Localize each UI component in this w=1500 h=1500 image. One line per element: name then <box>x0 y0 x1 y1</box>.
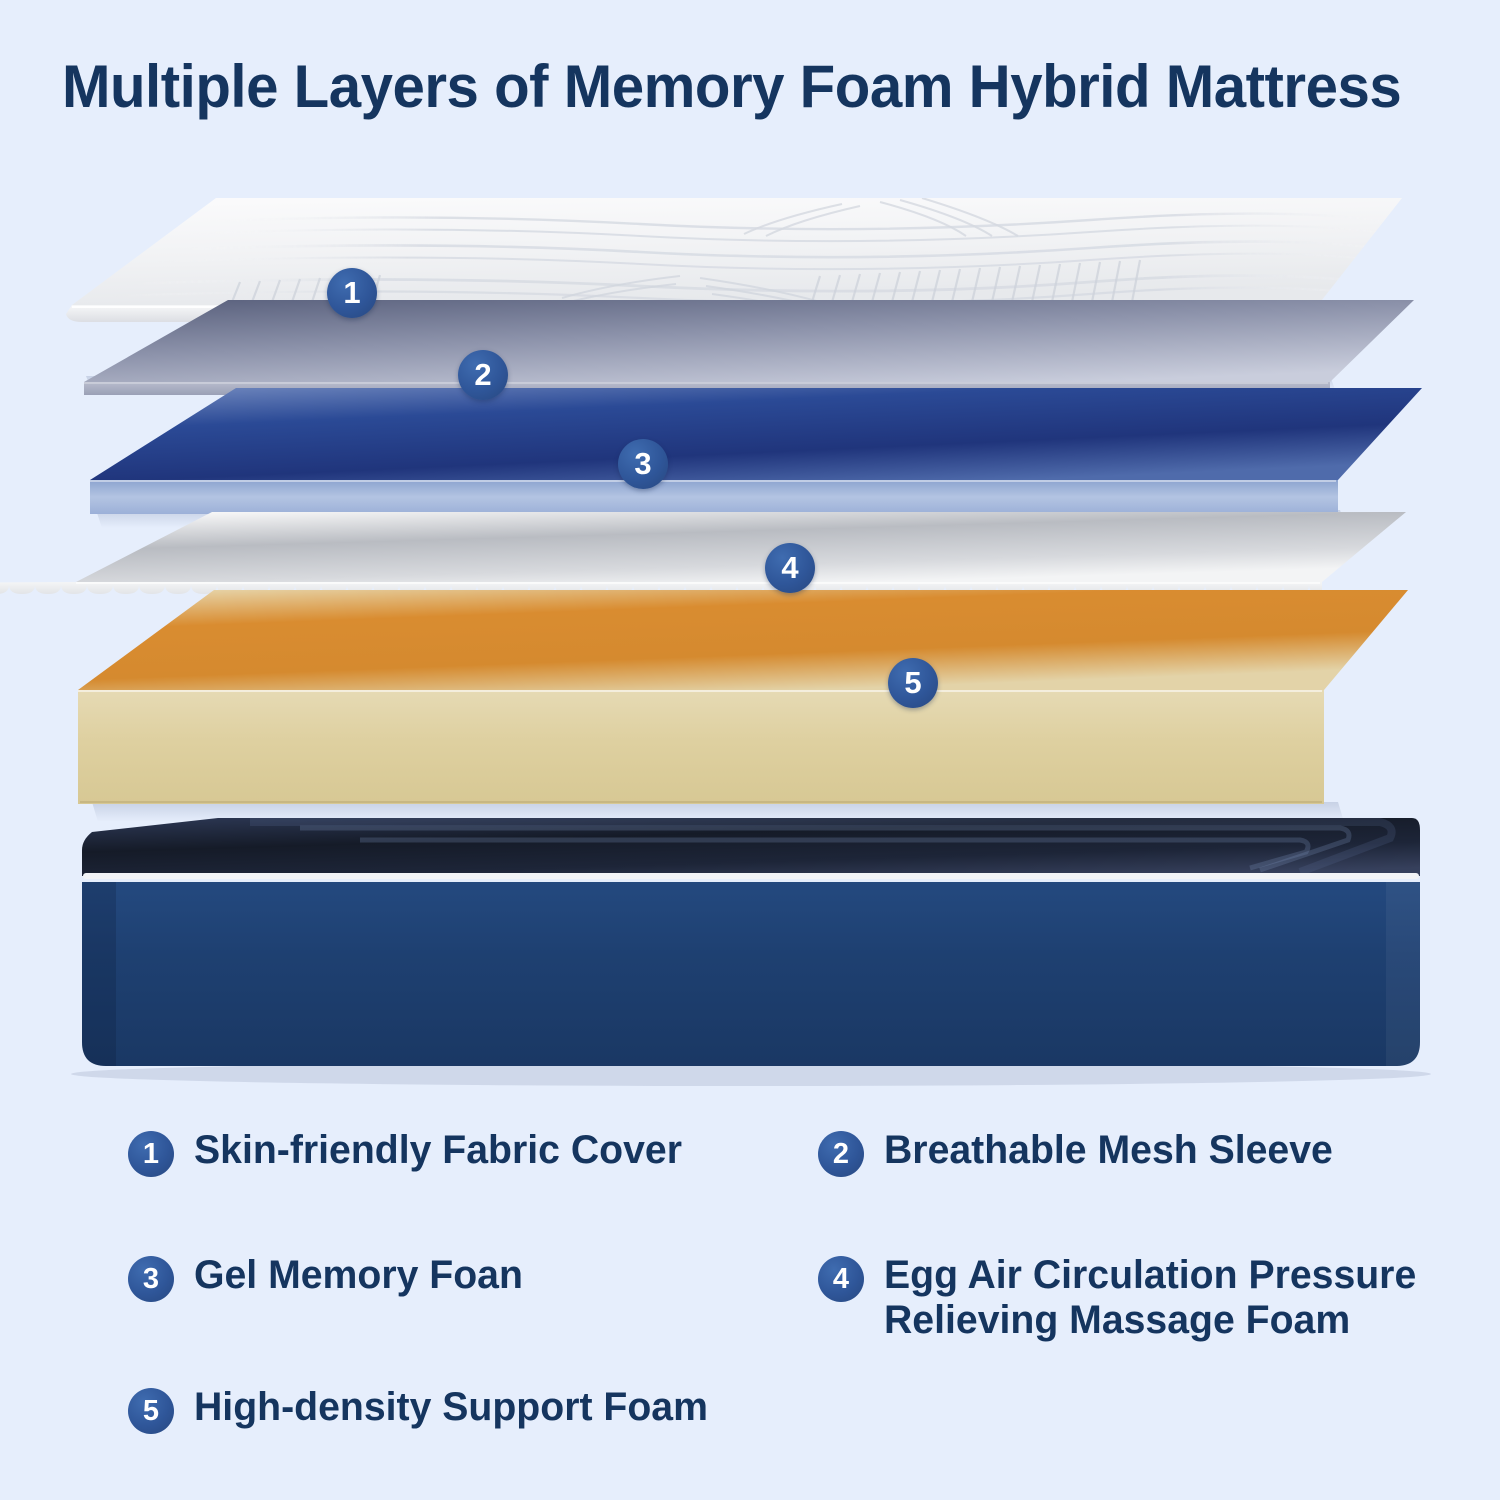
page-title: Multiple Layers of Memory Foam Hybrid Ma… <box>62 52 1420 121</box>
legend-item-2[interactable]: 2 Breathable Mesh Sleeve <box>818 1128 1342 1177</box>
figure-badge-3[interactable]: 3 <box>618 439 668 489</box>
legend-badge-4: 4 <box>818 1256 864 1302</box>
exploded-layers-svg <box>0 150 1500 1100</box>
mattress-layers-illustration: 1 2 3 4 5 <box>0 150 1500 1100</box>
legend-label-5: High-density Support Foam <box>194 1385 708 1430</box>
figure-badge-4[interactable]: 4 <box>765 543 815 593</box>
layer-2-mesh-sleeve <box>84 300 1414 395</box>
figure-badge-1[interactable]: 1 <box>327 268 377 318</box>
legend-label-2: Breathable Mesh Sleeve <box>884 1128 1333 1173</box>
layer-4-egg-air-foam <box>0 512 1406 594</box>
legend-item-1[interactable]: 1 Skin-friendly Fabric Cover <box>128 1128 692 1177</box>
mattress-base-box <box>71 818 1431 1086</box>
legend-item-3[interactable]: 3 Gel Memory Foan <box>128 1253 530 1302</box>
figure-badge-5[interactable]: 5 <box>888 658 938 708</box>
legend-badge-2: 2 <box>818 1131 864 1177</box>
legend-label-4: Egg Air Circulation Pressure Relieving M… <box>884 1253 1416 1343</box>
legend-label-1: Skin-friendly Fabric Cover <box>194 1128 682 1173</box>
legend-item-5[interactable]: 5 High-density Support Foam <box>128 1385 718 1434</box>
figure-badge-2[interactable]: 2 <box>458 350 508 400</box>
layer-legend: 1 Skin-friendly Fabric Cover 2 Breathabl… <box>0 1100 1500 1500</box>
legend-item-4[interactable]: 4 Egg Air Circulation Pressure Relieving… <box>818 1253 1427 1343</box>
legend-badge-1: 1 <box>128 1131 174 1177</box>
legend-badge-5: 5 <box>128 1388 174 1434</box>
layer-5-support-foam <box>78 590 1408 822</box>
legend-badge-3: 3 <box>128 1256 174 1302</box>
legend-label-3: Gel Memory Foan <box>194 1253 523 1298</box>
layer-3-gel-memory-foam <box>90 388 1422 528</box>
